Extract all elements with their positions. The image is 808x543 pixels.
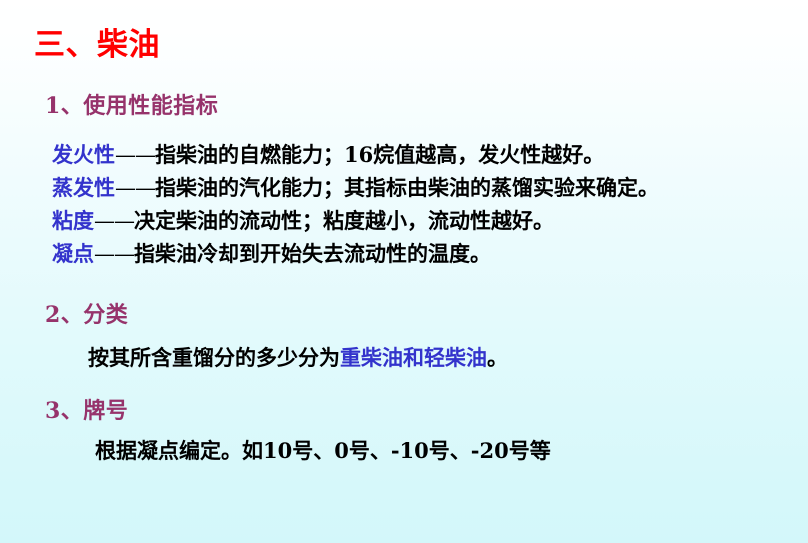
classification-text-before: 按其所含重馏分的多少分为: [88, 345, 340, 370]
classification-highlight: 重柴油和轻柴油: [340, 345, 487, 370]
section-heading-grade: 3、牌号: [45, 397, 128, 425]
definition-line: 发火性——指柴油的自燃能力；16烷值越高，发火性越好。: [52, 141, 604, 169]
section-heading-performance: 1、使用性能指标: [45, 92, 218, 120]
grade-paragraph: 根据凝点编定。如10号、0号、-10号、-20号等: [95, 437, 551, 464]
definition-description: 决定柴油的流动性；粘度越小，流动性越好。: [134, 208, 554, 233]
page-title: 三、柴油: [34, 26, 160, 64]
classification-paragraph: 按其所含重馏分的多少分为重柴油和轻柴油。: [88, 344, 508, 371]
definition-description: 指柴油的汽化能力；其指标由柴油的蒸馏实验来确定。: [155, 175, 659, 200]
section-heading-classification: 2、分类: [45, 301, 128, 329]
definition-dash: ——: [115, 143, 155, 167]
definition-description: 指柴油的自燃能力；16烷值越高，发火性越好。: [155, 142, 604, 167]
definition-term: 粘度: [52, 208, 94, 233]
definition-dash: ——: [115, 176, 155, 200]
definition-term: 发火性: [52, 142, 115, 167]
grade-text: 根据凝点编定。如10号、0号、-10号、-20号等: [95, 438, 551, 463]
slide-canvas: 三、柴油 1、使用性能指标 发火性——指柴油的自燃能力；16烷值越高，发火性越好…: [0, 0, 808, 543]
definition-line: 蒸发性——指柴油的汽化能力；其指标由柴油的蒸馏实验来确定。: [52, 174, 659, 202]
definition-term: 凝点: [52, 241, 94, 266]
definition-description: 指柴油冷却到开始失去流动性的温度。: [134, 241, 491, 266]
definition-line: 粘度——决定柴油的流动性；粘度越小，流动性越好。: [52, 207, 554, 235]
definition-dash: ——: [94, 209, 134, 233]
classification-text-after: 。: [487, 345, 508, 370]
definition-line: 凝点——指柴油冷却到开始失去流动性的温度。: [52, 240, 491, 268]
definition-dash: ——: [94, 242, 134, 266]
definition-term: 蒸发性: [52, 175, 115, 200]
